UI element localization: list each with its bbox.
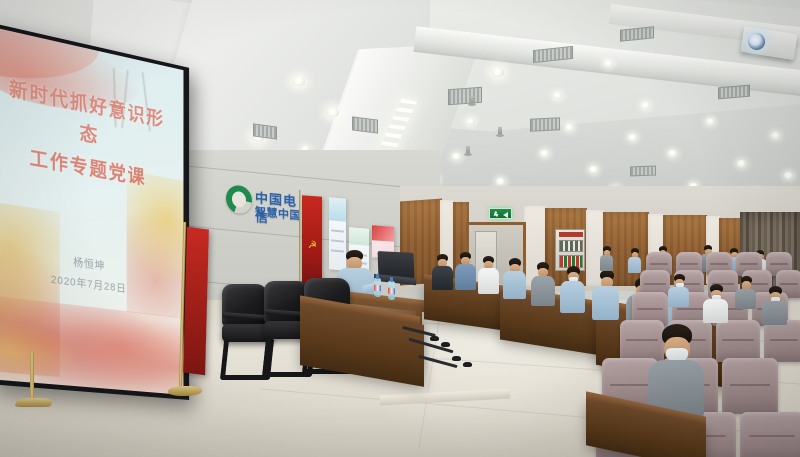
attendee-torso <box>503 271 526 299</box>
attendee <box>531 262 555 304</box>
sprinkler-head <box>466 146 470 155</box>
downlight-icon <box>327 108 339 117</box>
downlight-icon <box>553 92 562 99</box>
banner-line <box>331 229 345 232</box>
downlight-icon <box>565 124 574 131</box>
banner-header <box>372 225 394 241</box>
party-flag-pole <box>299 190 301 290</box>
attendee-torso <box>560 281 585 313</box>
attendee-torso <box>668 287 689 307</box>
downlight-icon <box>668 150 677 157</box>
attendee-foreground <box>648 324 706 414</box>
attendee <box>503 258 527 298</box>
downlight-icon <box>492 68 504 77</box>
panel-display <box>559 240 583 252</box>
attendee-torso <box>735 289 756 309</box>
exit-sign <box>489 208 512 219</box>
downlight-icon <box>604 60 613 67</box>
hammer-sickle-icon: ☭ <box>307 240 318 252</box>
water-bottle <box>388 281 395 301</box>
shoe <box>430 336 439 341</box>
downlight-icon <box>496 178 505 185</box>
air-vent <box>530 117 560 132</box>
downlight-icon <box>466 118 475 125</box>
downlight-icon <box>771 132 780 139</box>
auditorium-seat[interactable] <box>740 412 800 457</box>
attendee <box>762 286 788 322</box>
party-flag: ☭ <box>302 195 322 284</box>
auditorium-seat[interactable] <box>722 358 778 414</box>
attendee-torso <box>600 255 613 271</box>
projector-lens-icon <box>747 32 766 51</box>
auditorium-seat[interactable] <box>716 320 760 362</box>
water-bottle <box>374 278 381 298</box>
auditorium-seat[interactable] <box>764 320 800 362</box>
downlight-icon <box>540 150 549 157</box>
attendee <box>628 248 642 272</box>
red-flag <box>183 227 209 375</box>
attendee-torso <box>455 264 476 290</box>
shoe <box>452 356 461 361</box>
downlight-icon <box>706 118 715 125</box>
exit-arrow-icon <box>503 212 508 218</box>
bottle-label <box>374 285 381 292</box>
attendee-torso <box>628 257 641 273</box>
shoe <box>441 342 450 347</box>
attendee <box>478 256 500 292</box>
downlight-icon <box>293 77 305 86</box>
slide-title: 新时代抓好意识形态 工作专题党课 <box>8 74 165 197</box>
screen-stand-pole <box>30 352 34 404</box>
attendee <box>735 276 757 306</box>
slide-text-block: 新时代抓好意识形态 工作专题党课 杨恒坤 2020年7月28日 <box>0 27 183 395</box>
sprinkler-head <box>498 127 502 136</box>
logo-circle-icon: P <box>226 184 252 215</box>
downlight-icon <box>452 153 461 160</box>
downlight-icon <box>737 160 746 167</box>
photo-scene: P 中国电信 智慧中国 ☭ <box>0 0 800 457</box>
attendee <box>668 274 690 304</box>
company-logo: P 中国电信 智慧中国 <box>226 182 304 236</box>
banner-line <box>331 239 345 242</box>
downlight-icon <box>628 134 637 141</box>
sprinkler-head <box>470 96 474 105</box>
panel-header-strip <box>559 232 583 237</box>
downlight-icon <box>641 102 650 109</box>
projection-screen-surface: 新时代抓好意识形态 工作专题党课 杨恒坤 2020年7月28日 <box>0 27 183 395</box>
running-man-icon <box>493 211 499 217</box>
attendee-torso <box>531 276 555 306</box>
attendee <box>592 270 620 318</box>
attendee-torso <box>432 266 453 290</box>
downlight-icon <box>784 172 793 179</box>
banner-header <box>329 197 346 222</box>
logo-letter: P <box>234 191 243 209</box>
air-vent <box>448 87 482 105</box>
downlight-icon <box>589 166 598 173</box>
air-vent <box>630 166 656 177</box>
attendee <box>703 284 729 320</box>
attendee <box>600 246 614 270</box>
attendee-torso <box>592 286 619 320</box>
banner-header <box>349 227 369 245</box>
shoe <box>463 362 472 367</box>
slide-byline: 杨恒坤 2020年7月28日 <box>51 250 127 300</box>
attendee <box>560 266 586 310</box>
bottle-label <box>388 288 395 295</box>
attendee <box>455 252 477 288</box>
projection-screen: 新时代抓好意识形态 工作专题党课 杨恒坤 2020年7月28日 <box>0 22 189 400</box>
wall-control-panel[interactable] <box>555 229 585 271</box>
attendee <box>432 254 454 288</box>
attendee-torso <box>762 301 787 325</box>
attendee-torso <box>478 268 499 294</box>
attendee-torso <box>703 299 728 323</box>
screen-stand-foot <box>15 398 54 407</box>
